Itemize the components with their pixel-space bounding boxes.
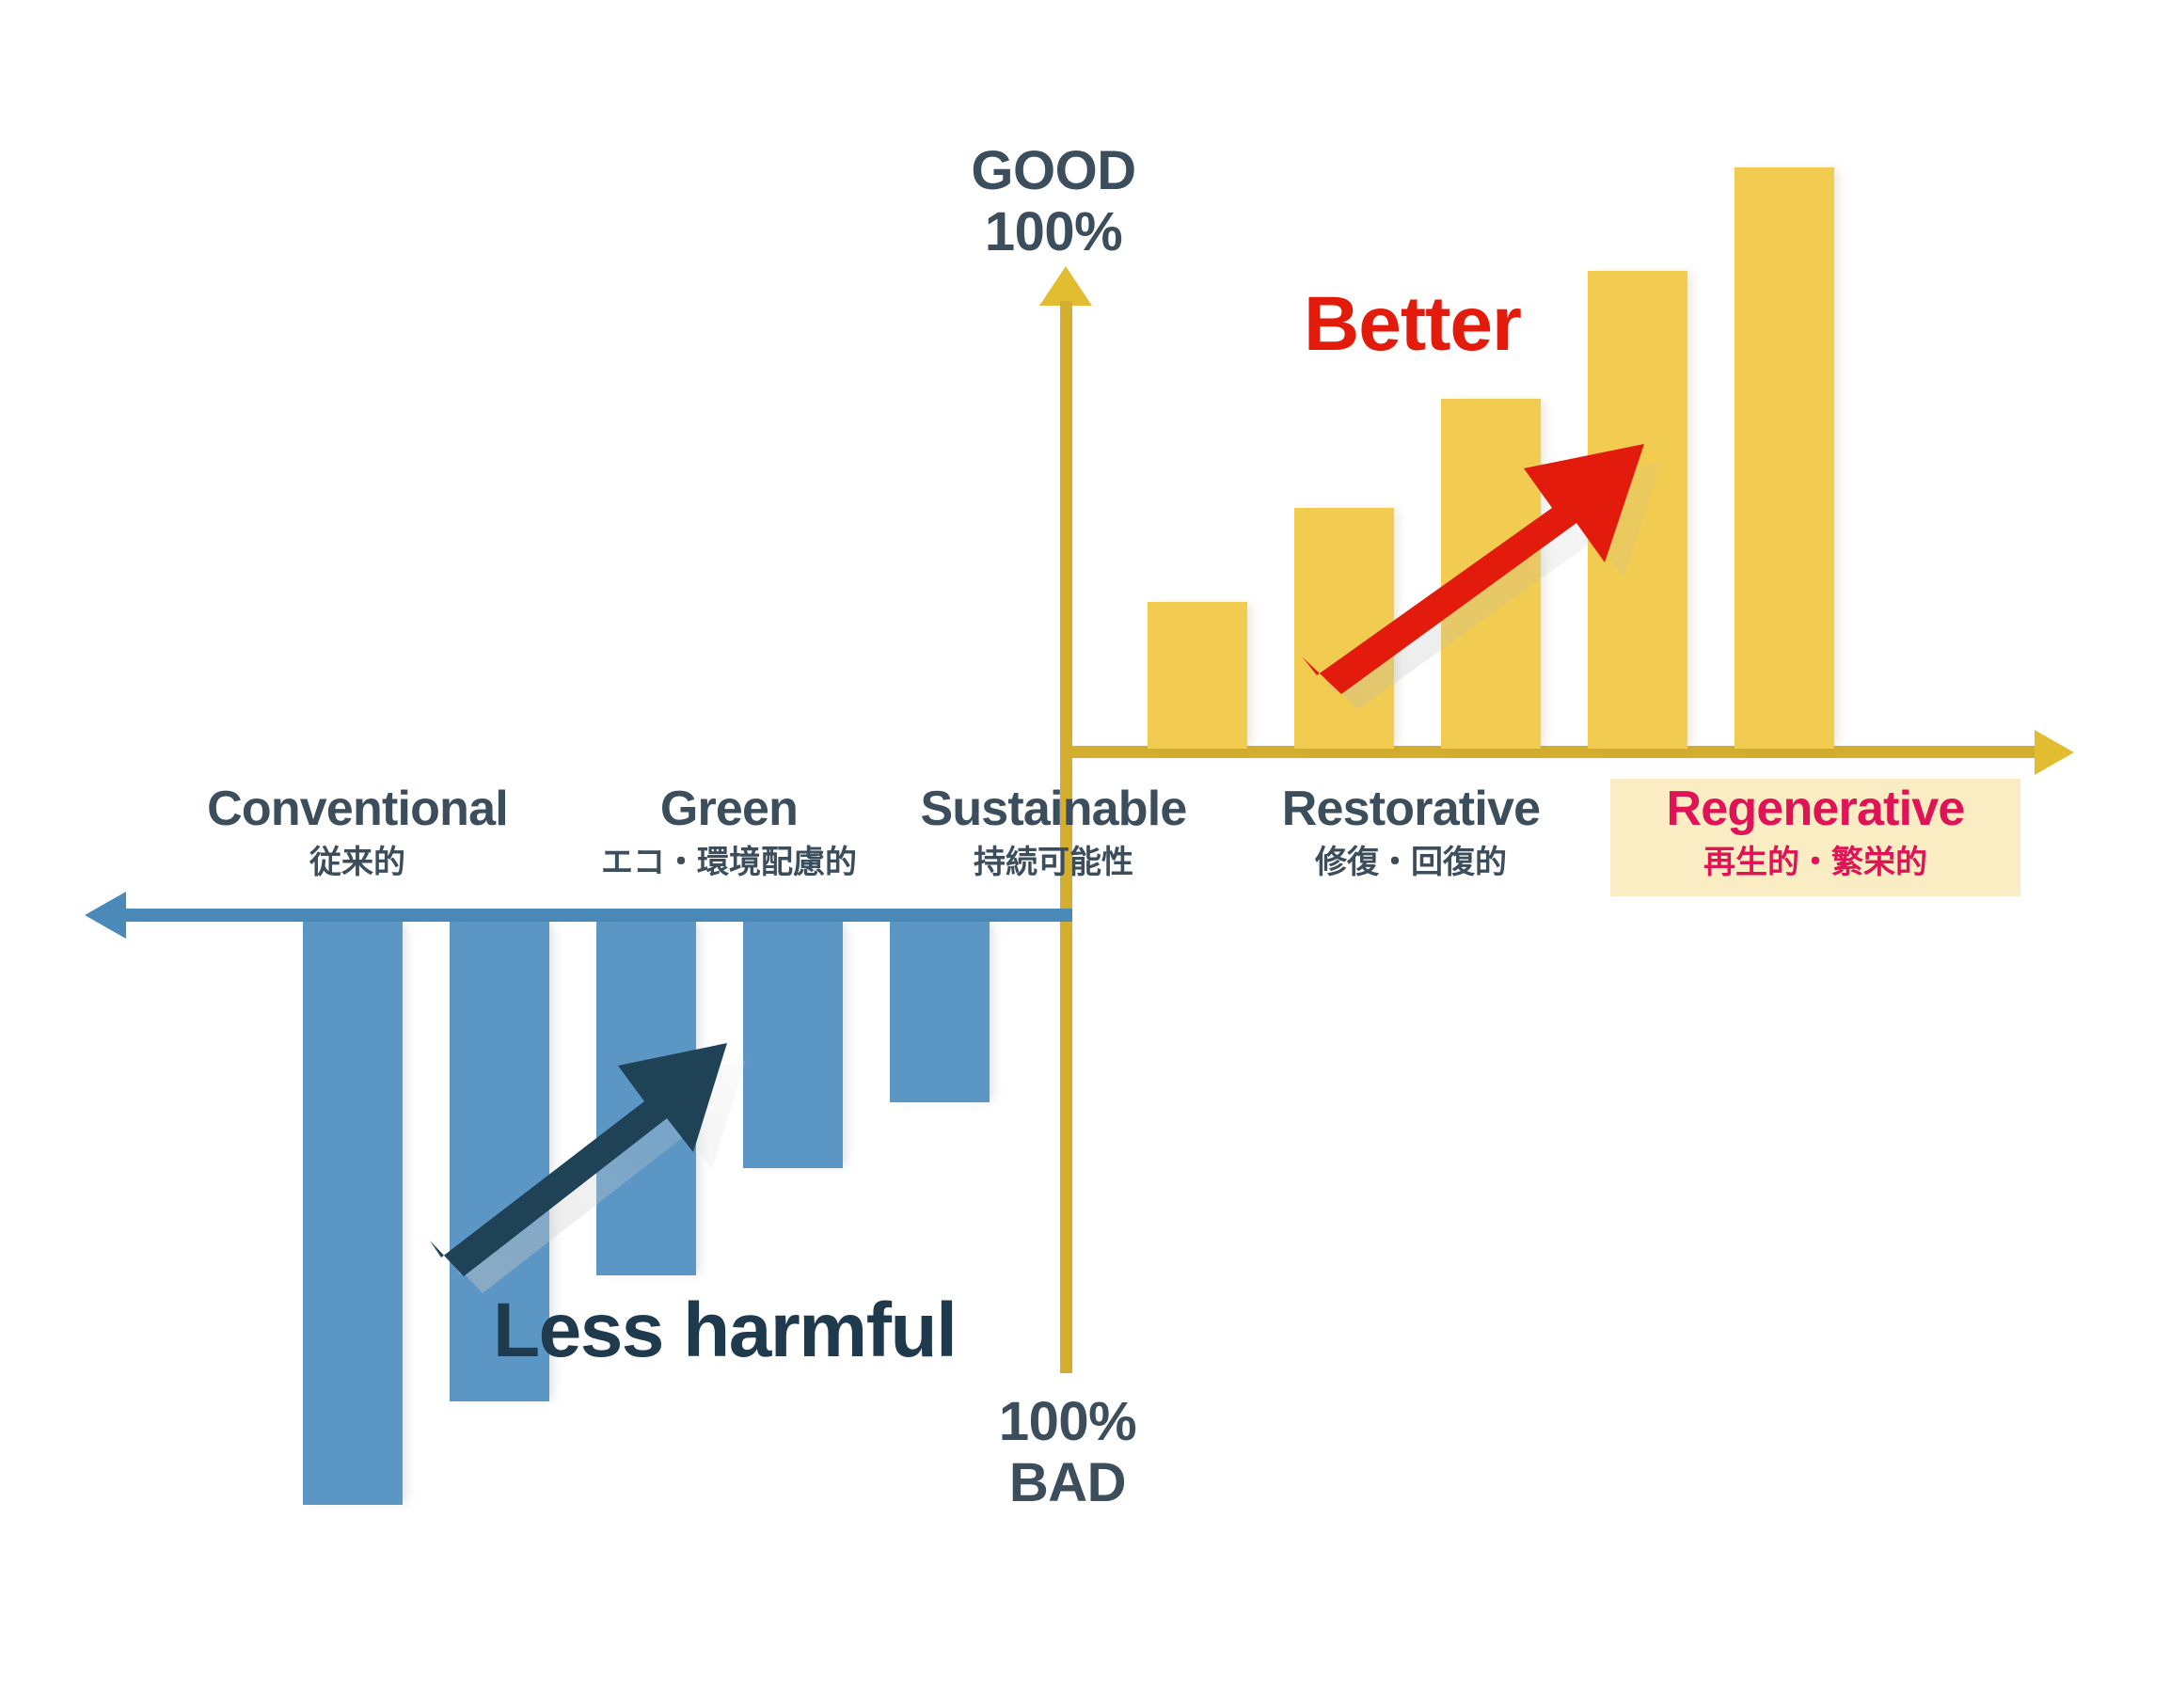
less-harmful-arrow-icon — [428, 1030, 785, 1284]
category-label-sustainable: Sustainable 持続可能性 — [884, 781, 1223, 881]
infographic-canvas: GOOD 100% Better Conventional 従来的 Gree — [0, 0, 2170, 1708]
category-jp-conventional: 従来的 — [146, 844, 569, 881]
category-jp-green: エコ・環境配慮的 — [560, 844, 898, 881]
category-en-green: Green — [560, 781, 898, 838]
category-jp-restorative: 修復・回復的 — [1251, 844, 1571, 881]
good-label-text: GOOD — [971, 140, 1135, 201]
category-label-restorative: Restorative 修復・回復的 — [1251, 781, 1571, 881]
good-value-text: 100% — [985, 201, 1122, 262]
bad-value-text: 100% — [999, 1391, 1136, 1452]
bad-bar-conventional — [303, 922, 403, 1505]
horizontal-axis-arrowhead-icon — [2035, 730, 2074, 775]
bad-axis-line — [122, 909, 1072, 922]
less-harmful-annotation-label: Less harmful — [493, 1287, 956, 1375]
category-en-sustainable: Sustainable — [884, 781, 1223, 838]
category-jp-regenerative: 再生的・繁栄的 — [1624, 844, 2007, 881]
category-label-green: Green エコ・環境配慮的 — [560, 781, 898, 881]
vertical-axis-arrowhead-icon — [1039, 266, 1092, 306]
good-bar-conventional — [1148, 602, 1247, 749]
category-jp-sustainable: 持続可能性 — [884, 844, 1223, 881]
bad-label-text: BAD — [1009, 1452, 1126, 1513]
bad-axis-arrowhead-icon — [85, 892, 126, 939]
category-label-regenerative: Regenerative 再生的・繁栄的 — [1610, 779, 2020, 896]
bad-axis-label: 100% BAD — [889, 1392, 1246, 1514]
good-axis-label: GOOD 100% — [875, 141, 1232, 263]
category-en-conventional: Conventional — [146, 781, 569, 838]
better-annotation-label: Better — [1304, 280, 1521, 369]
good-bar-regenerative — [1734, 167, 1834, 749]
better-arrow-icon — [1298, 423, 1703, 696]
category-en-regenerative: Regenerative — [1624, 781, 2007, 838]
category-label-conventional: Conventional 従来的 — [146, 781, 569, 881]
category-en-restorative: Restorative — [1251, 781, 1571, 838]
bad-bar-regenerative — [890, 922, 990, 1102]
